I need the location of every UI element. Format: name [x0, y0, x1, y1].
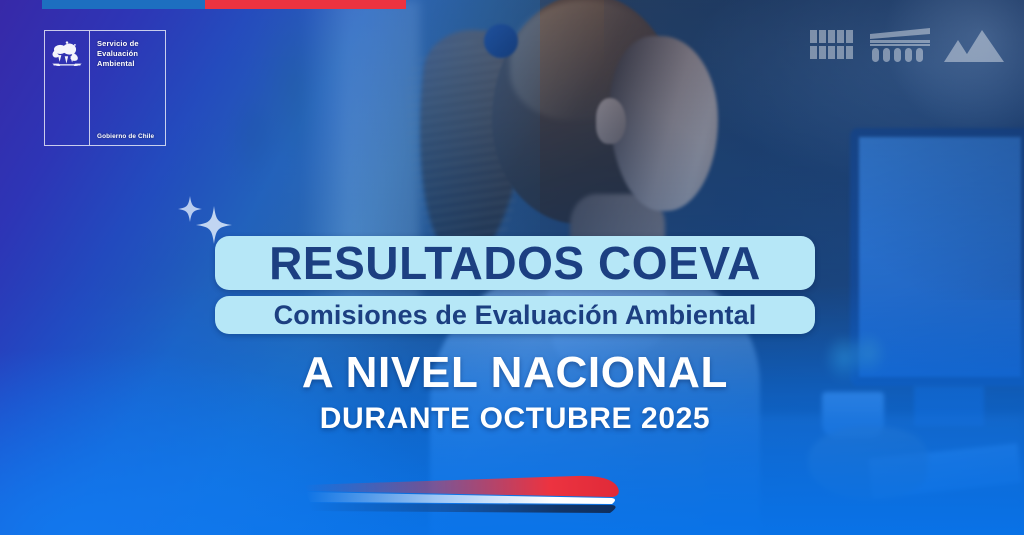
- coeva-results-banner: Servicio de Evaluación Ambiental Gobiern…: [0, 0, 1024, 535]
- logo-name-line-2: Evaluación: [97, 49, 159, 59]
- logo-text-panel: Servicio de Evaluación Ambiental Gobiern…: [90, 31, 165, 145]
- flag-colour-rule: [42, 0, 406, 9]
- logo-institution-name: Servicio de Evaluación Ambiental: [97, 39, 159, 69]
- flag-swoosh-icon: [300, 471, 630, 521]
- logo-crest-panel: [45, 31, 90, 145]
- government-palace-icon: [870, 28, 930, 62]
- headline-title-pill: RESULTADOS COEVA: [215, 236, 815, 290]
- sea-institutional-logo: Servicio de Evaluación Ambiental Gobiern…: [44, 30, 166, 146]
- headline-scope: A NIVEL NACIONAL: [215, 348, 815, 398]
- chile-coat-of-arms-icon: [50, 39, 84, 69]
- flag-rule-blue-segment: [42, 0, 205, 9]
- logo-name-line-3: Ambiental: [97, 59, 159, 69]
- mountains-icon: [944, 28, 1006, 62]
- logo-government-label: Gobierno de Chile: [97, 133, 159, 140]
- building-windows-icon: [810, 28, 856, 62]
- flag-rule-red-segment: [205, 0, 406, 9]
- skyline-decoration: [810, 28, 1006, 62]
- headline-subtitle-pill: Comisiones de Evaluación Ambiental: [215, 296, 815, 334]
- logo-name-line-1: Servicio de: [97, 39, 159, 49]
- headline-block: RESULTADOS COEVA Comisiones de Evaluació…: [215, 236, 815, 436]
- headline-period: DURANTE OCTUBRE 2025: [215, 402, 815, 436]
